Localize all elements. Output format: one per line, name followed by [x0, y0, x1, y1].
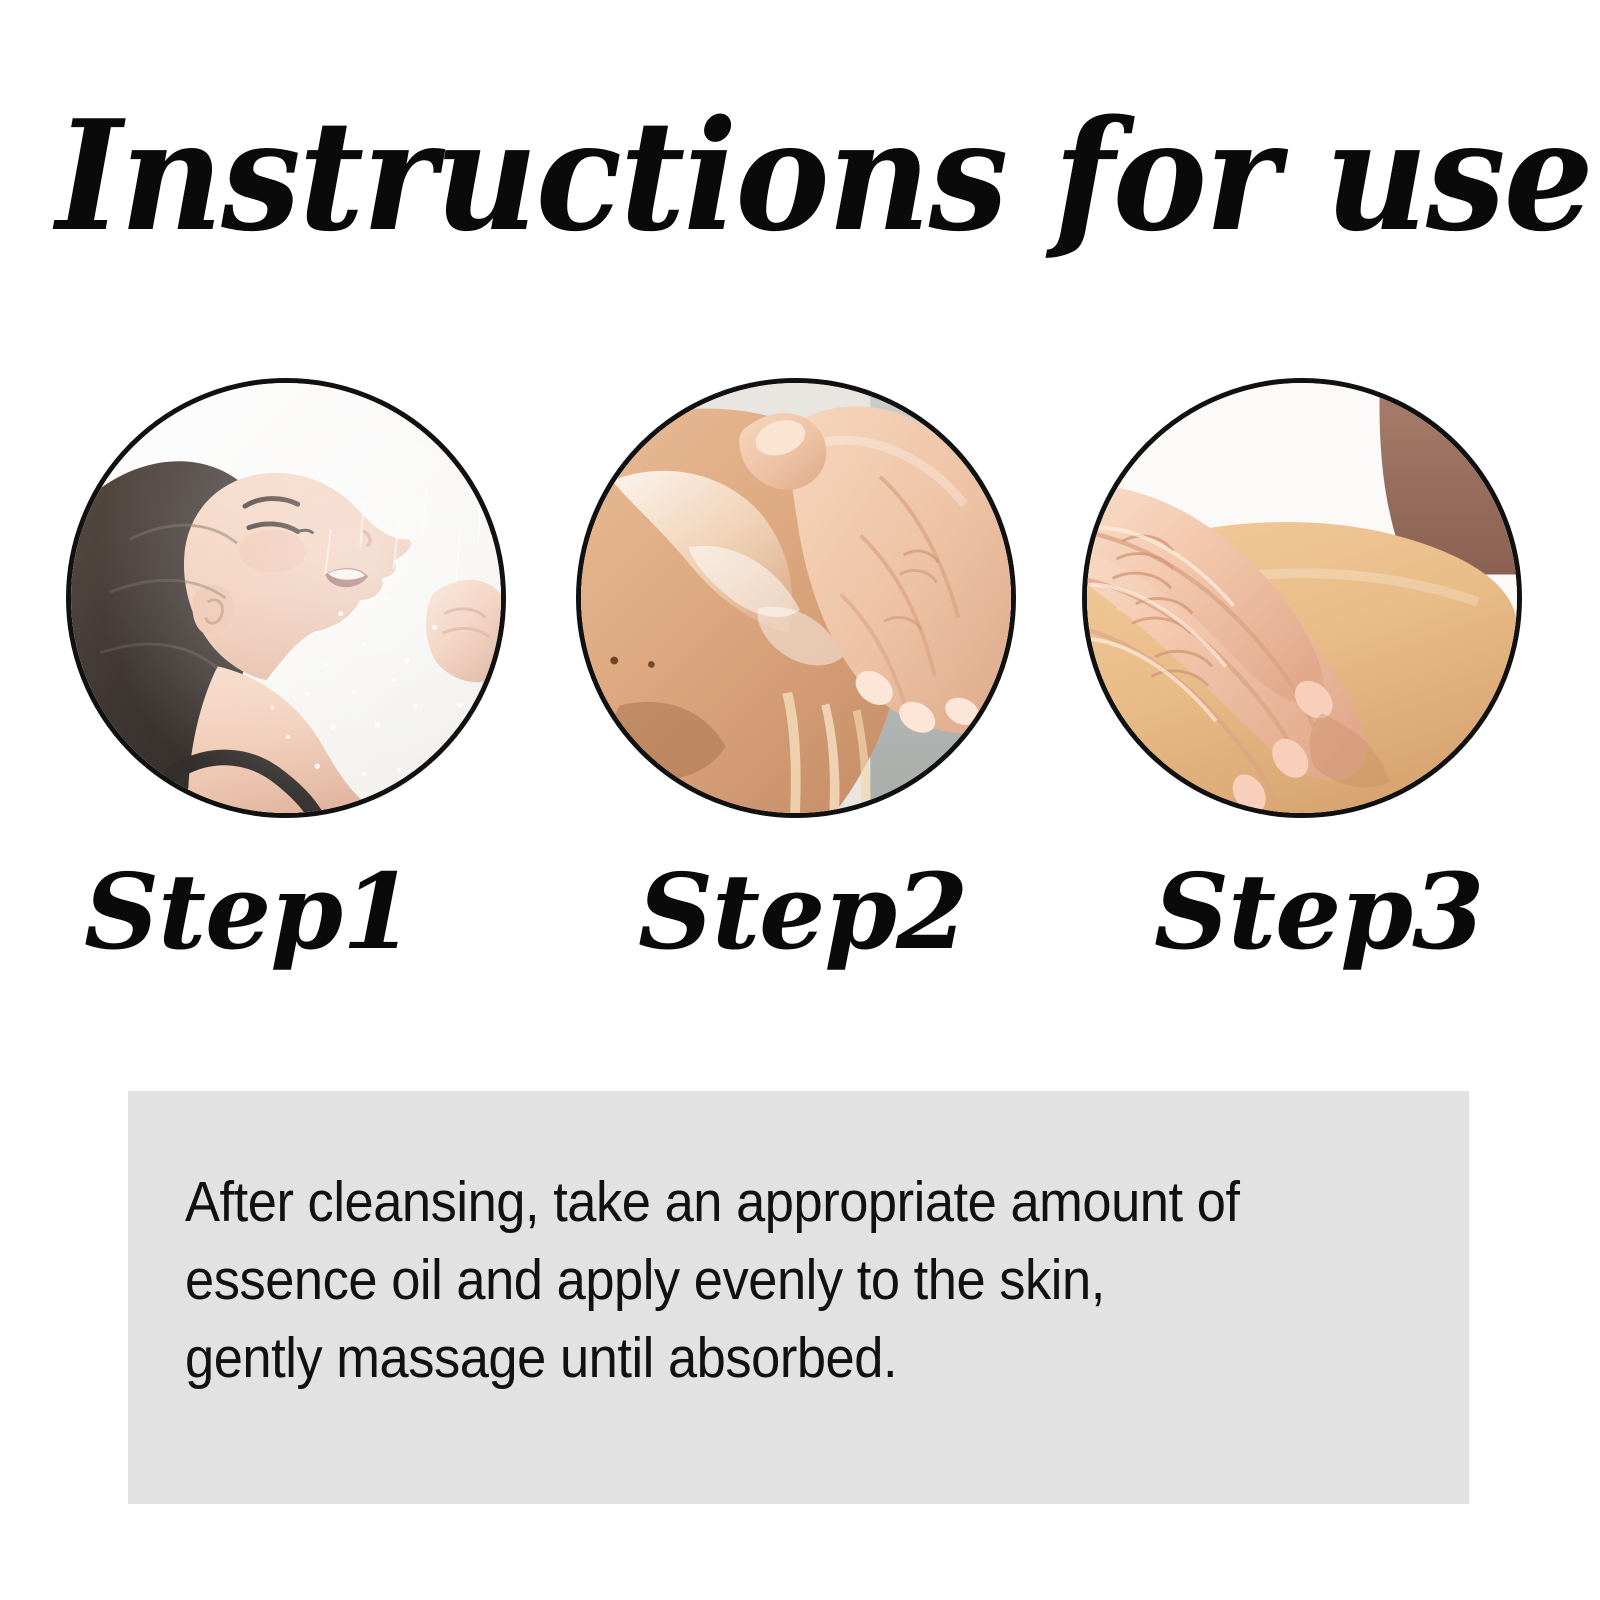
- step-3: Step3: [1082, 378, 1528, 998]
- steps-row: Step1: [0, 378, 1600, 998]
- page-title: Instructions for use: [56, 96, 1544, 256]
- step-3-image-circle: [1082, 378, 1522, 818]
- hand-applying-oil-to-shoulder-photo: [581, 383, 1011, 813]
- hand-massaging-back-photo: [1087, 383, 1517, 813]
- woman-showering-photo: [71, 383, 501, 813]
- step-3-label: Step3: [1082, 860, 1528, 964]
- step-1-label: Step1: [66, 860, 512, 964]
- step-2-image-circle: [576, 378, 1016, 818]
- step-1-image-circle: [66, 378, 506, 818]
- step-2: Step2: [576, 378, 1022, 998]
- description-text: After cleansing, take an appropriate amo…: [185, 1163, 1335, 1397]
- instructions-poster: Instructions for use: [0, 0, 1600, 1600]
- description-panel: After cleansing, take an appropriate amo…: [128, 1091, 1469, 1504]
- step-2-label: Step2: [576, 860, 1022, 964]
- step-1: Step1: [66, 378, 512, 998]
